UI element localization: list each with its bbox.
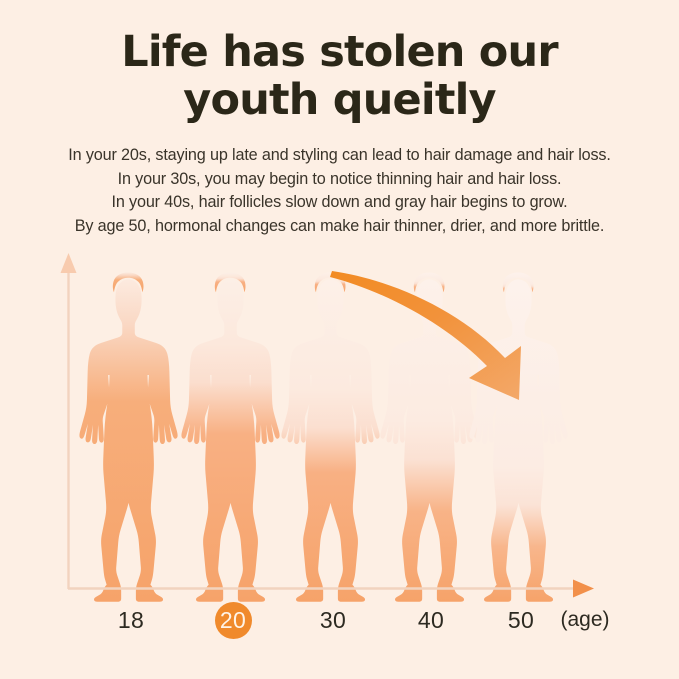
figure-age-40 [380, 272, 478, 601]
x-tick-label-20[interactable]: 20 [203, 604, 263, 636]
title-line-1: Life has stolen our [0, 28, 679, 76]
page-title: Life has stolen our youth queitly [0, 28, 679, 124]
x-tick-label-30[interactable]: 30 [303, 604, 363, 636]
figure-age-50 [469, 272, 567, 601]
y-axis [61, 253, 77, 589]
title-line-2: youth queitly [0, 76, 679, 124]
figure-age-30 [281, 272, 379, 601]
figure-age-20 [181, 272, 279, 601]
description-line-4: By age 50, hormonal changes can make hai… [0, 215, 679, 239]
x-tick-label-40[interactable]: 40 [401, 604, 461, 636]
x-axis-name-label: (age) [540, 604, 630, 636]
infographic-poster: Life has stolen our youth queitly In you… [0, 0, 679, 679]
description-line-3: In your 40s, hair follicles slow down an… [0, 191, 679, 215]
description-line-2: In your 30s, you may begin to notice thi… [0, 168, 679, 192]
x-tick-label-18[interactable]: 18 [101, 604, 161, 636]
figure-age-18 [79, 272, 177, 601]
x-axis-tick-labels: 18 20 30 40 50 (age) [0, 604, 679, 648]
description-text: In your 20s, staying up late and styling… [0, 144, 679, 238]
description-line-1: In your 20s, staying up late and styling… [0, 144, 679, 168]
